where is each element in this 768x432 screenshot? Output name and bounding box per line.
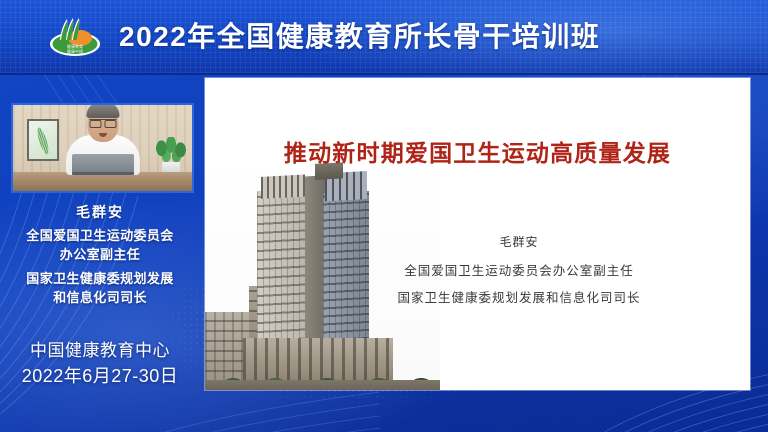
glasses-icon — [89, 119, 116, 127]
speaker-figure — [66, 113, 140, 175]
presentation-stage: 健康教育 健康中国 2022年全国健康教育所长骨干培训班 — [0, 0, 768, 432]
event-date: 2022年6月27-30日 — [0, 362, 200, 388]
health-education-emblem-icon: 健康教育 健康中国 — [47, 14, 103, 60]
photo-ground — [205, 380, 440, 390]
speaker-org-line-3: 国家卫生健康委规划发展 — [0, 268, 200, 287]
tower-cap-left — [261, 174, 305, 198]
plant-foliage — [154, 137, 188, 165]
slide-title: 推动新时期爱国卫生运动高质量发展 — [205, 134, 750, 168]
potted-plant-icon — [154, 138, 188, 174]
speaker-info-panel: 毛群安 全国爱国卫生运动委员会 办公室副主任 国家卫生健康委规划发展 和信息化司… — [0, 78, 200, 428]
slide-byline-line-3: 国家卫生健康委规划发展和信息化司司长 — [288, 287, 750, 306]
leaf-artwork-icon — [35, 126, 50, 155]
speaker-hair — [86, 103, 119, 118]
presentation-slide[interactable]: 推动新时期爱国卫生运动高质量发展 毛群安 全国爱国卫生运动委员会办公室副主任 国… — [205, 78, 750, 390]
wall-picture-frame — [27, 119, 59, 161]
speaker-org-line-2: 办公室副主任 — [0, 244, 200, 263]
event-header-banner: 健康教育 健康中国 2022年全国健康教育所长骨干培训班 — [0, 0, 768, 75]
speaker-name: 毛群安 — [0, 202, 200, 222]
svg-text:健康中国: 健康中国 — [67, 48, 83, 54]
speaker-video-feed[interactable] — [11, 103, 194, 193]
slide-byline-line-2: 全国爱国卫生运动委员会办公室副主任 — [288, 260, 750, 279]
laptop-icon — [72, 154, 134, 175]
host-organization: 中国健康教育中心 — [0, 336, 200, 361]
speaker-org-line-4: 和信息化司司长 — [0, 287, 200, 306]
slide-byline-name: 毛群安 — [288, 233, 750, 250]
event-title: 2022年全国健康教育所长骨干培训班 — [119, 23, 600, 51]
speaker-org-line-1: 全国爱国卫生运动委员会 — [0, 225, 200, 244]
